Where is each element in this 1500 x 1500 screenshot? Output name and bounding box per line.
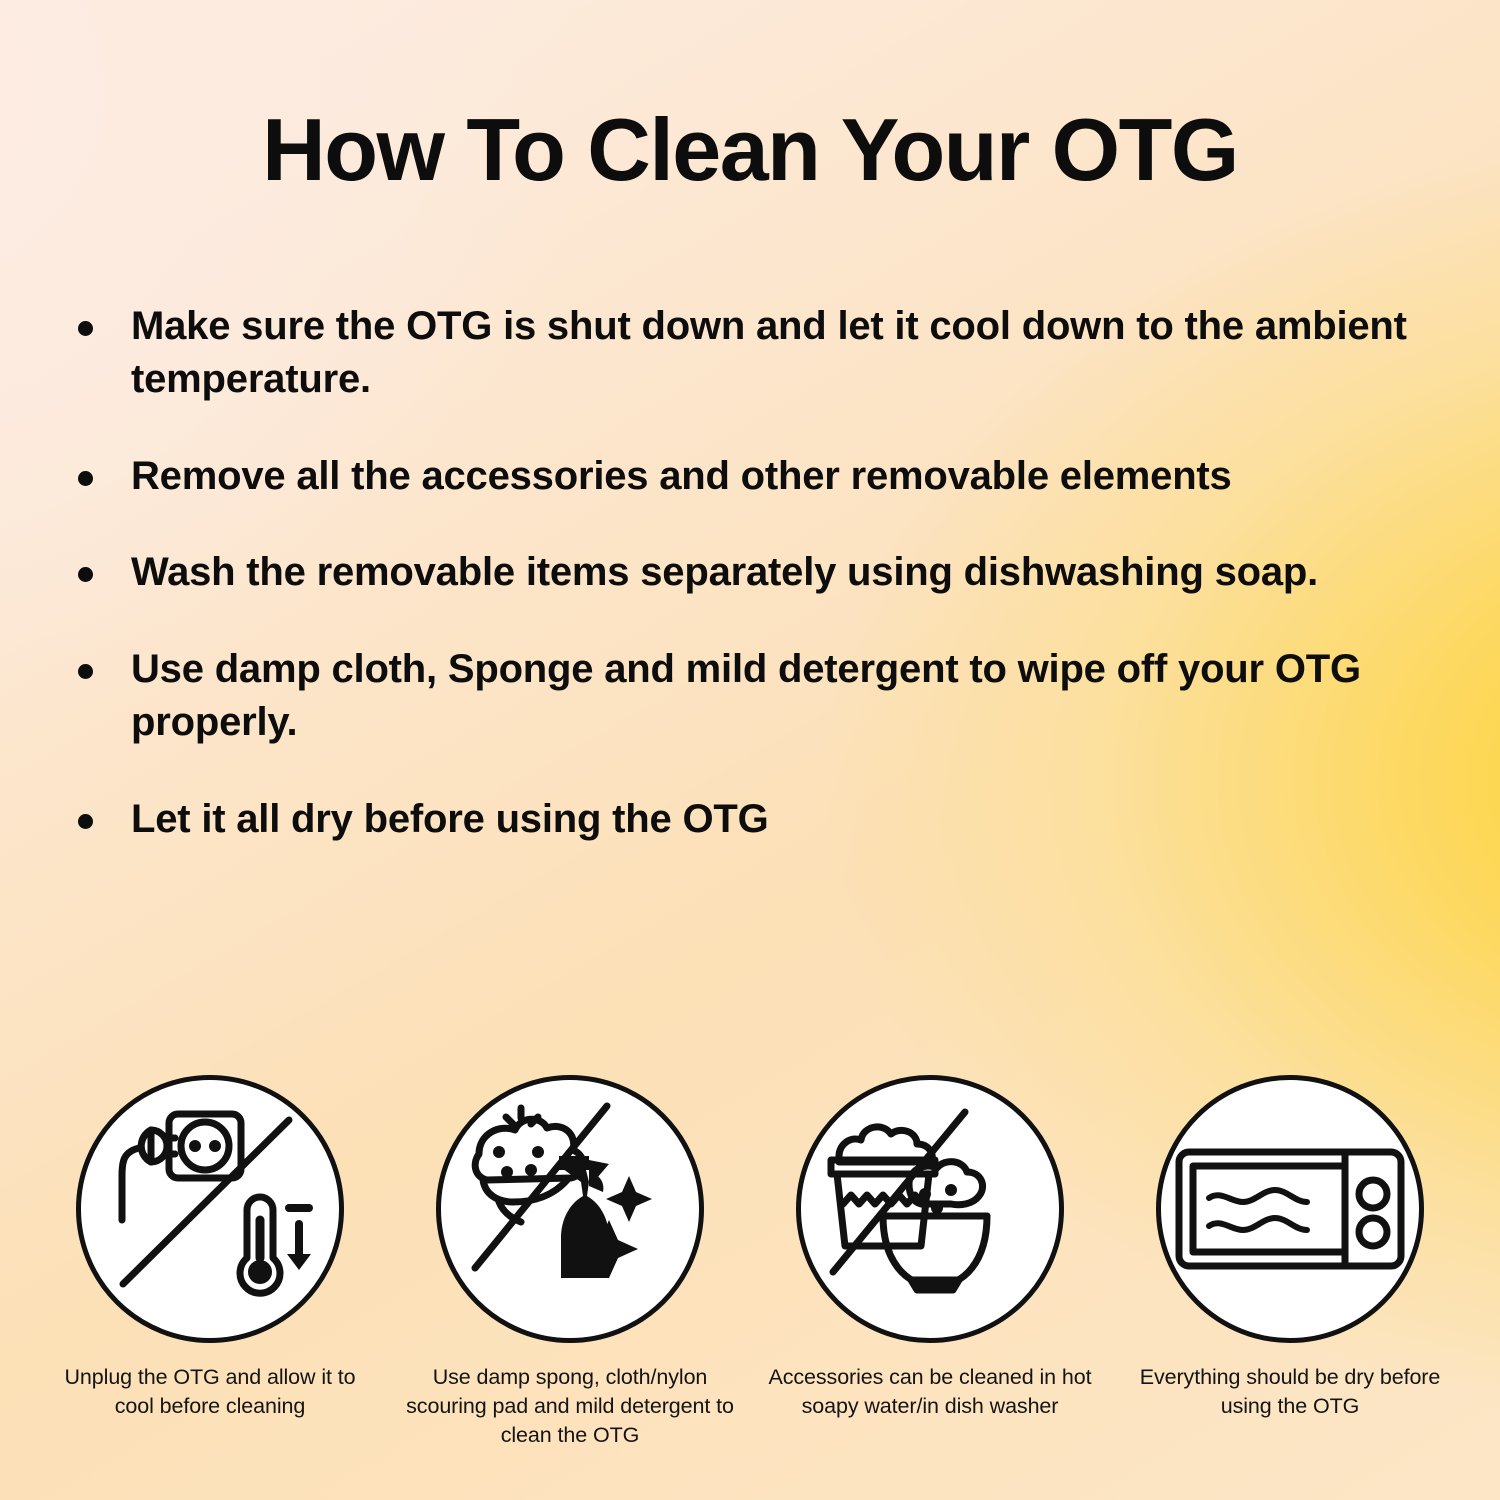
icon-cell-soapy-water: Accessories can be cleaned in hot soapy … <box>760 1075 1100 1421</box>
icon-caption: Use damp spong, cloth/nylon scouring pad… <box>405 1363 735 1449</box>
list-item: Let it all dry before using the OTG <box>78 793 1448 846</box>
icon-caption: Everything should be dry before using th… <box>1125 1363 1455 1421</box>
list-item-text: Wash the removable items separately usin… <box>131 546 1448 599</box>
bullet-dot-icon <box>78 471 93 486</box>
bullet-dot-icon <box>78 321 93 336</box>
list-item: Remove all the accessories and other rem… <box>78 450 1448 503</box>
list-item-text: Let it all dry before using the OTG <box>131 793 1448 846</box>
no-spray-cleaner-use-sponge-icon <box>436 1075 704 1343</box>
unplug-and-cool-icon <box>76 1075 344 1343</box>
icon-cell-sponge: Use damp spong, cloth/nylon scouring pad… <box>400 1075 740 1449</box>
wash-accessories-soapy-water-icon <box>796 1075 1064 1343</box>
icon-caption: Unplug the OTG and allow it to cool befo… <box>45 1363 375 1421</box>
icon-cell-unplug: Unplug the OTG and allow it to cool befo… <box>40 1075 380 1421</box>
list-item-text: Make sure the OTG is shut down and let i… <box>131 300 1448 406</box>
icon-caption: Accessories can be cleaned in hot soapy … <box>765 1363 1095 1421</box>
bullet-dot-icon <box>78 567 93 582</box>
instruction-list: Make sure the OTG is shut down and let i… <box>78 300 1448 846</box>
list-item-text: Use damp cloth, Sponge and mild detergen… <box>131 643 1448 749</box>
icon-cell-oven: Everything should be dry before using th… <box>1120 1075 1460 1421</box>
icon-strip: Unplug the OTG and allow it to cool befo… <box>40 1075 1460 1449</box>
infographic-poster: How To Clean Your OTG Make sure the OTG … <box>0 0 1500 1500</box>
list-item: Wash the removable items separately usin… <box>78 546 1448 599</box>
bullet-dot-icon <box>78 814 93 829</box>
page-title: How To Clean Your OTG <box>0 104 1500 196</box>
list-item-text: Remove all the accessories and other rem… <box>131 450 1448 503</box>
list-item: Make sure the OTG is shut down and let i… <box>78 300 1448 406</box>
bullet-dot-icon <box>78 664 93 679</box>
list-item: Use damp cloth, Sponge and mild detergen… <box>78 643 1448 749</box>
dry-otg-oven-icon <box>1156 1075 1424 1343</box>
